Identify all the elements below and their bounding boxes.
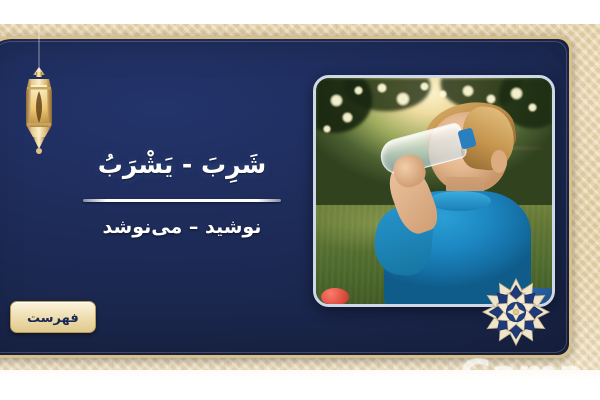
index-button[interactable]: فهرست [10,301,96,333]
boy-collar [429,191,490,211]
bottom-white-band [0,370,600,400]
text-divider [83,199,281,202]
rosette-glyph [479,275,553,349]
top-white-band [0,0,600,24]
photo-ball [321,288,349,304]
photo-boy-figure [316,78,552,304]
illustration-photo-frame [313,75,555,307]
vocabulary-text-block: شَرِبَ - يَشْرَبُ نوشید – می‌نوشد [72,97,292,287]
islamic-rosette-icon [479,275,553,349]
persian-translation-line: نوشید – می‌نوشد [103,216,262,238]
slide-canvas: شَرِبَ - يَشْرَبُ نوشید – می‌نوشد [0,0,600,400]
lantern-icon [16,17,62,167]
index-button-label: فهرست [27,311,79,326]
content-panel: شَرِبَ - يَشْرَبُ نوشید – می‌نوشد [0,36,572,358]
lantern-cord [39,17,40,72]
boy-ear [491,150,508,173]
arabic-verb-line: شَرِبَ - يَشْرَبُ [98,146,267,184]
boy-drinking-water-photo [316,78,552,304]
